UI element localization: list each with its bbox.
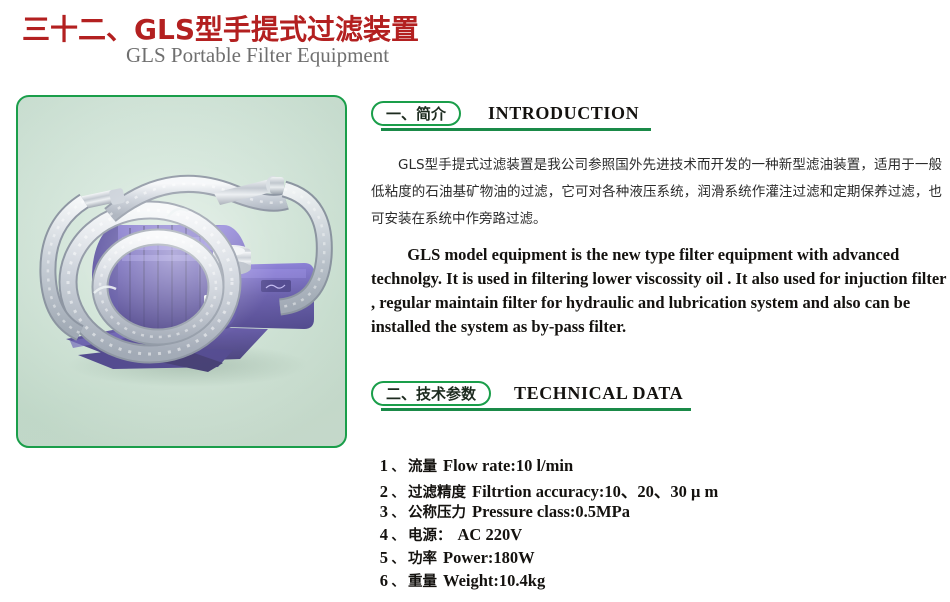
- spec-label-cn: 功率: [408, 547, 437, 568]
- spec-row: 3 、 公称压力 Pressure class:0.5MPa: [371, 501, 950, 524]
- spec-index: 1: [371, 456, 388, 476]
- spec-row: 4 、 电源： AC 220V: [371, 524, 950, 547]
- spec-separator: 、: [388, 548, 408, 567]
- page-title-en: GLS Portable Filter Equipment: [126, 43, 389, 68]
- spec-value-en: Power:180W: [443, 548, 535, 568]
- spec-row: 2 、 过滤精度 Filtrtion accuracy:10、20、30 μ m: [371, 478, 950, 501]
- spec-row: 5 、 功率 Power:180W: [371, 547, 950, 570]
- spec-separator: 、: [388, 525, 408, 544]
- section-rule-technical-data: [381, 408, 691, 411]
- spec-value-en: Filtrtion accuracy:10、20、30 μ m: [472, 478, 718, 502]
- section-pill-introduction: 一、简介: [371, 101, 461, 126]
- page-title-cn: 三十二、GLS型手提式过滤装置: [22, 8, 419, 48]
- spec-index: 2: [371, 482, 388, 502]
- spec-separator: 、: [388, 502, 408, 521]
- spec-index: 5: [371, 548, 388, 568]
- spec-value-en: Pressure class:0.5MPa: [472, 502, 630, 522]
- section-pill-technical-data: 二、技术参数: [371, 381, 491, 406]
- section-label-introduction: INTRODUCTION: [488, 103, 639, 124]
- spec-label-cn: 公称压力: [408, 501, 466, 522]
- spec-row: 6 、 重量 Weight:10.4kg: [371, 570, 950, 593]
- spec-separator: 、: [388, 456, 408, 475]
- spec-label-cn: 过滤精度: [408, 481, 466, 502]
- technical-data-list: 1 、 流量 Flow rate:10 l/min 2 、 过滤精度 Filtr…: [371, 455, 950, 593]
- section-header-technical-data: 二、技术参数 TECHNICAL DATA: [371, 381, 701, 415]
- intro-paragraph-cn: GLS型手提式过滤装置是我公司参照国外先进技术而开发的一种新型滤油装置，适用于一…: [371, 152, 942, 233]
- spec-index: 6: [371, 571, 388, 591]
- spec-index: 3: [371, 502, 388, 522]
- section-rule-introduction: [381, 128, 651, 131]
- spec-separator: 、: [388, 482, 408, 501]
- spec-label-cn: 流量: [408, 455, 437, 476]
- spec-value-en: AC 220V: [458, 525, 523, 545]
- spec-label-cn: 重量: [408, 570, 437, 591]
- section-header-introduction: 一、简介 INTRODUCTION: [371, 101, 661, 135]
- section-label-technical-data: TECHNICAL DATA: [514, 383, 683, 404]
- photo-vignette: [18, 97, 345, 446]
- spec-row: 1 、 流量 Flow rate:10 l/min: [371, 455, 950, 478]
- product-photo-frame: [16, 95, 347, 448]
- spec-index: 4: [371, 525, 388, 545]
- spec-value-en: Flow rate:10 l/min: [443, 456, 573, 476]
- spec-value-en: Weight:10.4kg: [443, 571, 545, 591]
- spec-label-cn: 电源：: [408, 524, 452, 545]
- content-column: 一、简介 INTRODUCTION GLS型手提式过滤装置是我公司参照国外先进技…: [371, 0, 950, 602]
- spec-separator: 、: [388, 571, 408, 590]
- intro-paragraph-en: GLS model equipment is the new type filt…: [371, 243, 947, 339]
